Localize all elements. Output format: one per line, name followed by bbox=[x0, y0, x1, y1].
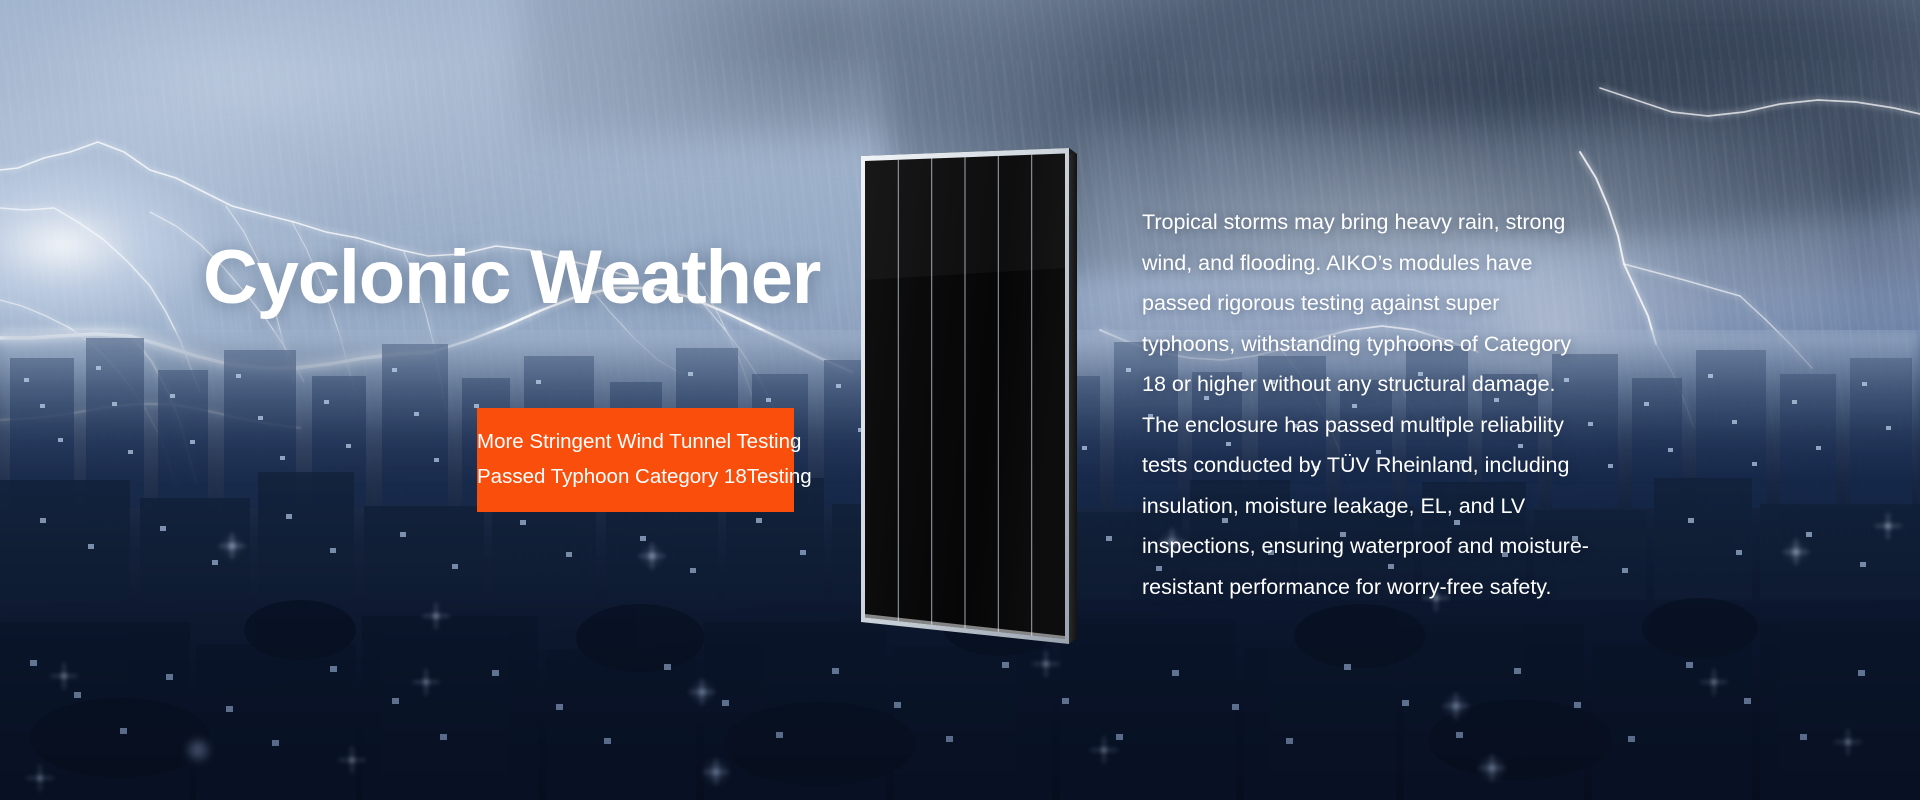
hero-banner: Cyclonic Weather bbox=[0, 0, 1920, 800]
description-line: typhoons, withstanding typhoons of Categ… bbox=[1142, 324, 1657, 365]
description-line: inspections, ensuring waterproof and moi… bbox=[1142, 526, 1657, 567]
solar-panel-module bbox=[855, 118, 1095, 663]
description-line: wind, and flooding. AIKO’s modules have bbox=[1142, 243, 1657, 284]
description-line: resistant performance for worry-free saf… bbox=[1142, 567, 1657, 608]
description-text: Tropical storms may bring heavy rain, st… bbox=[1142, 202, 1657, 607]
badge-line-2: Passed Typhoon Category 18Testing bbox=[477, 459, 794, 494]
description-line: Tropical storms may bring heavy rain, st… bbox=[1142, 202, 1657, 243]
description-line: tests conducted by TÜV Rheinland, includ… bbox=[1142, 445, 1657, 486]
description-line: insulation, moisture leakage, EL, and LV bbox=[1142, 486, 1657, 527]
status-badge: More Stringent Wind Tunnel Testing Passe… bbox=[477, 408, 794, 512]
badge-line-1: More Stringent Wind Tunnel Testing bbox=[477, 424, 794, 459]
description-line: 18 or higher without any structural dama… bbox=[1142, 364, 1657, 405]
description-line: passed rigorous testing against super bbox=[1142, 283, 1657, 324]
page-title: Cyclonic Weather bbox=[203, 238, 820, 318]
description-line: The enclosure has passed multiple reliab… bbox=[1142, 405, 1657, 446]
